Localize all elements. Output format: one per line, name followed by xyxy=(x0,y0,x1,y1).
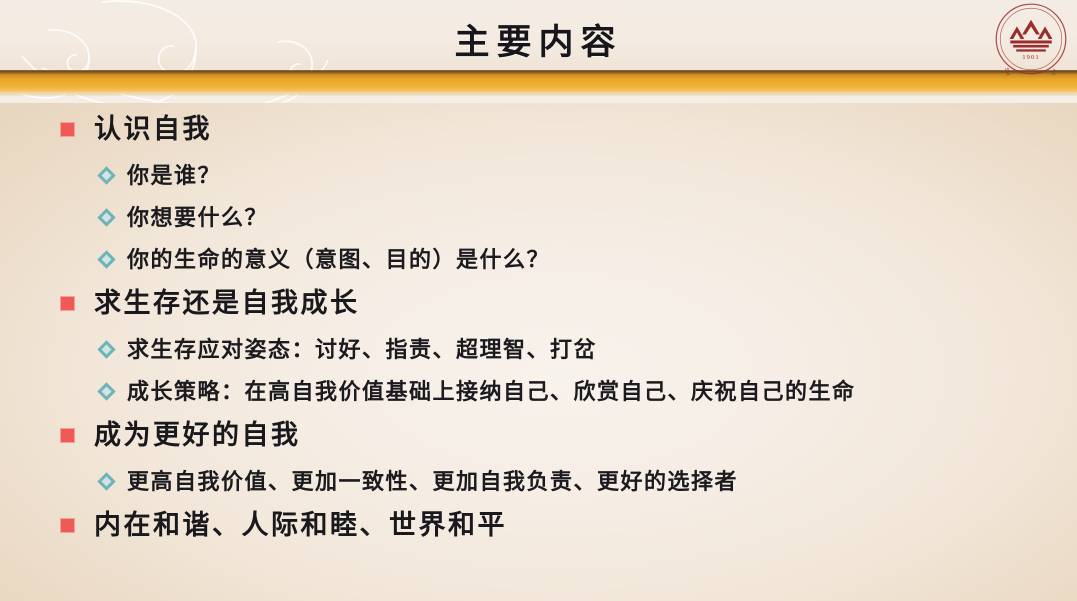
slide-body: 认识自我 你是谁？ 你想要什么？ 你的生命的意义（意图、目的）是什么？ 求生存还… xyxy=(0,110,1077,554)
outline-item-level2-label: 你的生命的意义（意图、目的）是什么？ xyxy=(127,242,550,278)
outline-item-level2-label: 成长策略：在高自我价值基础上接纳自己、欣赏自己、庆祝自己的生命 xyxy=(127,374,856,410)
outline-item-level2: 求生存应对姿态：讨好、指责、超理智、打岔 xyxy=(0,332,1077,371)
outline-item-level2: 你是谁？ xyxy=(0,158,1077,197)
outline-item-level1: 求生存还是自我成长 xyxy=(0,284,1077,327)
teal-diamond-bullet-icon xyxy=(100,385,113,398)
red-square-bullet-icon xyxy=(60,122,75,137)
outline-item-level1-label: 求生存还是自我成长 xyxy=(94,284,360,324)
outline-group: 认识自我 你是谁？ 你想要什么？ 你的生命的意义（意图、目的）是什么？ xyxy=(0,110,1077,281)
red-square-bullet-icon xyxy=(60,428,75,443)
outline-item-level1: 内在和谐、人际和睦、世界和平 xyxy=(0,506,1077,549)
red-square-bullet-icon xyxy=(60,296,75,311)
teal-diamond-bullet-icon xyxy=(100,343,113,356)
outline-item-level2: 更高自我价值、更加一致性、更加自我负责、更好的选择者 xyxy=(0,464,1077,503)
teal-diamond-bullet-icon xyxy=(100,253,113,266)
outline-group: 内在和谐、人际和睦、世界和平 xyxy=(0,506,1077,549)
outline-item-level1: 认识自我 xyxy=(0,110,1077,153)
outline-group: 求生存还是自我成长 求生存应对姿态：讨好、指责、超理智、打岔 成长策略：在高自我… xyxy=(0,284,1077,413)
outline-item-level2-label: 更高自我价值、更加一致性、更加自我负责、更好的选择者 xyxy=(127,464,738,500)
outline-item-level2-label: 你是谁？ xyxy=(127,158,221,194)
outline-item-level1-label: 认识自我 xyxy=(94,110,212,150)
presentation-slide: 主要内容 1901 SHANDONG UNIVERSITY xyxy=(0,0,1077,601)
outline-item-level2: 成长策略：在高自我价值基础上接纳自己、欣赏自己、庆祝自己的生命 xyxy=(0,374,1077,413)
shandong-university-seal-icon: 1901 SHANDONG UNIVERSITY xyxy=(994,2,1068,76)
gold-accent-bar xyxy=(0,71,1077,94)
page-title: 主要内容 xyxy=(0,14,1077,65)
header-lower-background xyxy=(0,93,1077,103)
slide-header: 主要内容 1901 SHANDONG UNIVERSITY xyxy=(0,0,1077,103)
outline-item-level2: 你的生命的意义（意图、目的）是什么？ xyxy=(0,242,1077,281)
seal-year: 1901 xyxy=(1022,54,1039,61)
seal-ring-text: SHANDONG UNIVERSITY xyxy=(1003,67,1059,76)
outline-item-level1-label: 成为更好的自我 xyxy=(94,416,301,456)
outline-item-level1: 成为更好的自我 xyxy=(0,416,1077,459)
outline-item-level1-label: 内在和谐、人际和睦、世界和平 xyxy=(94,506,507,546)
outline-item-level2: 你想要什么？ xyxy=(0,200,1077,239)
red-square-bullet-icon xyxy=(60,518,75,533)
teal-diamond-bullet-icon xyxy=(100,169,113,182)
outline-group: 成为更好的自我 更高自我价值、更加一致性、更加自我负责、更好的选择者 xyxy=(0,416,1077,503)
teal-diamond-bullet-icon xyxy=(100,475,113,488)
outline-item-level2-label: 求生存应对姿态：讨好、指责、超理智、打岔 xyxy=(127,332,597,368)
outline-item-level2-label: 你想要什么？ xyxy=(127,200,268,236)
teal-diamond-bullet-icon xyxy=(100,211,113,224)
